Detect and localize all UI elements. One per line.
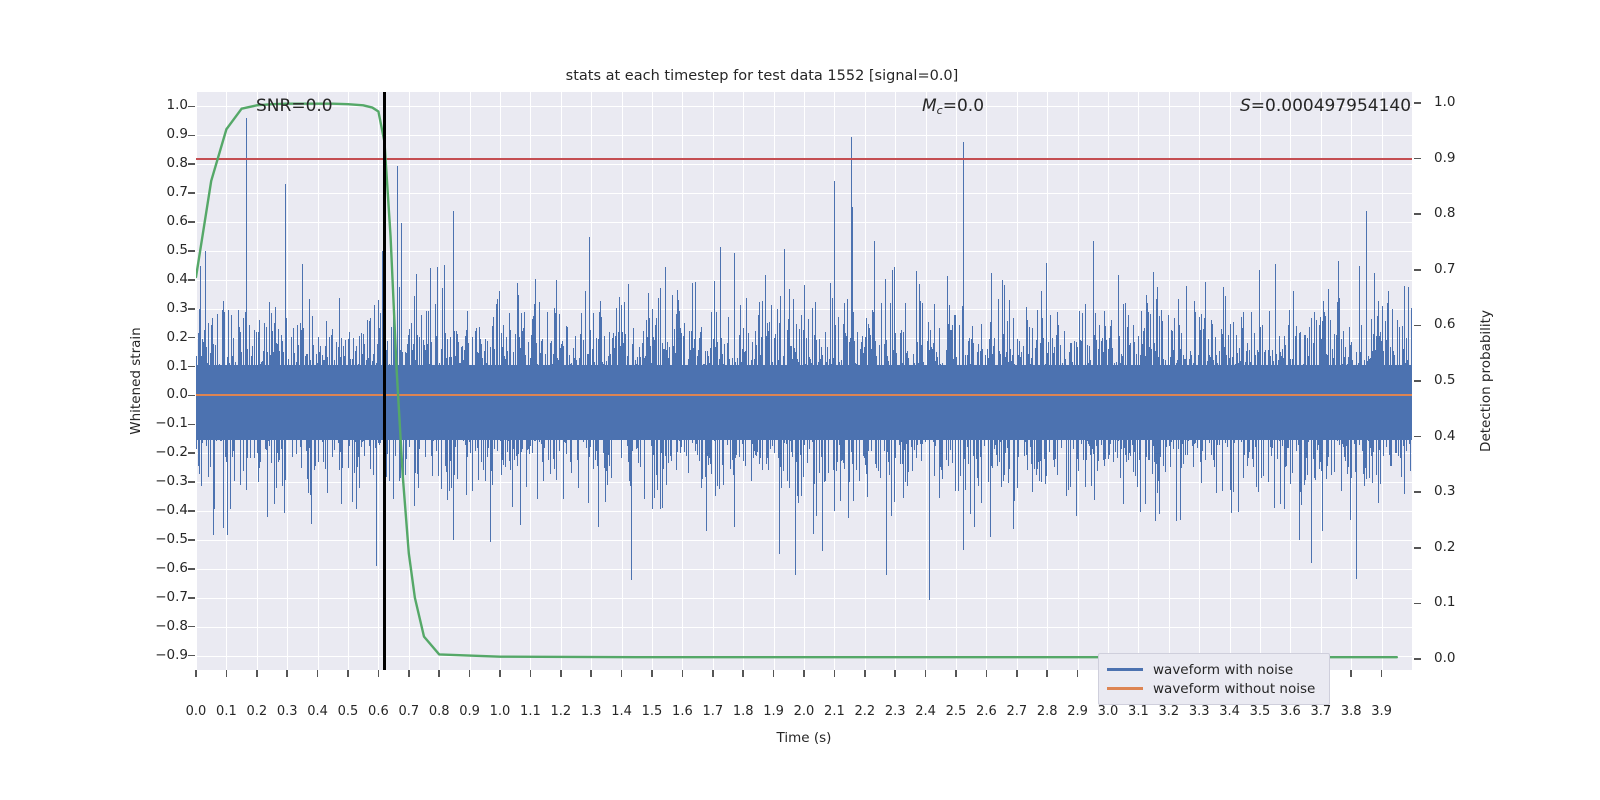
- y-axis-left-tick-label: 1.0: [128, 97, 188, 113]
- y-axis-right-tick-label: 0.1: [1434, 594, 1494, 610]
- chart-title-text: stats at each timestep for test data 155…: [566, 68, 959, 84]
- x-axis-tick-mark: [925, 670, 927, 677]
- y-axis-left-tick-label: 0.2: [128, 329, 188, 345]
- y-axis-left-tick-mark: [188, 481, 195, 483]
- legend-item[interactable]: waveform with noise: [1107, 660, 1321, 679]
- x-axis-tick-mark: [590, 670, 592, 677]
- x-axis-tick-mark: [864, 670, 866, 677]
- y-axis-left-tick-label: −0.1: [128, 415, 188, 431]
- y-axis-left-tick-mark: [188, 135, 195, 137]
- y-axis-left-tick-mark: [188, 568, 195, 570]
- x-axis-tick-mark: [226, 670, 228, 677]
- x-axis-tick-mark: [834, 670, 836, 677]
- legend-color-swatch: [1107, 687, 1143, 690]
- y-axis-left-tick-label: 0.3: [128, 300, 188, 316]
- y-axis-right-tick-label: 0.7: [1434, 261, 1494, 277]
- x-axis-tick-mark: [286, 670, 288, 677]
- y-axis-left-tick-label: −0.4: [128, 502, 188, 518]
- x-axis-tick-mark: [499, 670, 501, 677]
- chart-title: stats at each timestep for test data 155…: [0, 68, 1600, 84]
- y-axis-right-tick-label: 0.2: [1434, 539, 1494, 555]
- annotation-chirp-mass: Mc=0.0: [922, 96, 984, 117]
- x-axis-tick-mark: [256, 670, 258, 677]
- y-axis-right-tick-label: 0.8: [1434, 205, 1494, 221]
- x-axis-tick-mark: [712, 670, 714, 677]
- y-axis-right-tick-mark: [1414, 269, 1421, 271]
- x-axis-tick-mark: [621, 670, 623, 677]
- y-axis-left-tick-label: 0.0: [128, 386, 188, 402]
- y-axis-left-tick-mark: [188, 250, 195, 252]
- y-axis-right-tick-mark: [1414, 380, 1421, 382]
- y-axis-left-tick-label: −0.3: [128, 473, 188, 489]
- y-axis-right-tick-mark: [1414, 436, 1421, 438]
- x-axis-tick-mark: [347, 670, 349, 677]
- y-axis-left-label: Whitened strain: [128, 92, 144, 670]
- x-axis-tick-mark: [1350, 670, 1352, 677]
- x-axis-tick-mark: [530, 670, 532, 677]
- y-axis-left-tick-mark: [188, 424, 195, 426]
- x-axis-tick-mark: [560, 670, 562, 677]
- y-axis-left-tick-mark: [188, 510, 195, 512]
- legend-item[interactable]: waveform without noise: [1107, 679, 1321, 698]
- y-axis-right-tick-mark: [1414, 102, 1421, 104]
- y-axis-left-tick-mark: [188, 539, 195, 541]
- y-axis-left-tick-label: −0.8: [128, 618, 188, 634]
- y-axis-right-tick-label: 0.5: [1434, 372, 1494, 388]
- y-axis-left-tick-label: −0.7: [128, 589, 188, 605]
- y-axis-right-tick-label: 0.0: [1434, 650, 1494, 666]
- y-axis-right-tick-mark: [1414, 603, 1421, 605]
- x-axis-tick-mark: [651, 670, 653, 677]
- annotation-score-value: =0.000497954140882939: [1251, 96, 1412, 116]
- y-axis-left-tick-label: 0.6: [128, 213, 188, 229]
- annotation-chirp-mass-value: =0.0: [943, 96, 984, 116]
- y-axis-right-tick-label: 1.0: [1434, 94, 1494, 110]
- y-axis-left-tick-mark: [188, 163, 195, 165]
- y-axis-right-tick-label: 0.4: [1434, 428, 1494, 444]
- x-axis-tick-mark: [378, 670, 380, 677]
- x-axis-tick-mark: [682, 670, 684, 677]
- y-axis-left-tick-mark: [188, 106, 195, 108]
- y-axis-left-tick-mark: [188, 337, 195, 339]
- y-axis-left-tick-mark: [188, 366, 195, 368]
- y-axis-left-tick-mark: [188, 395, 195, 397]
- y-axis-right-tick-label: 0.6: [1434, 316, 1494, 332]
- y-axis-left-tick-mark: [188, 655, 195, 657]
- x-axis-tick-mark: [469, 670, 471, 677]
- x-axis-tick-mark: [1016, 670, 1018, 677]
- y-axis-left-tick-mark: [188, 279, 195, 281]
- x-axis-tick-mark: [408, 670, 410, 677]
- y-axis-left-tick-mark: [188, 626, 195, 628]
- y-axis-left-tick-mark: [188, 192, 195, 194]
- y-axis-left-tick-mark: [188, 221, 195, 223]
- x-axis-tick-mark: [438, 670, 440, 677]
- y-axis-left-tick-mark: [188, 308, 195, 310]
- y-axis-left-tick-mark: [188, 452, 195, 454]
- x-axis-tick-mark: [773, 670, 775, 677]
- x-axis-tick-mark: [955, 670, 957, 677]
- y-axis-left-tick-label: −0.5: [128, 531, 188, 547]
- plot-area: SNR=0.0 Mc=0.0 S=0.000497954140882939: [196, 92, 1412, 670]
- y-axis-right-tick-mark: [1414, 158, 1421, 160]
- y-axis-left-tick-label: 0.1: [128, 358, 188, 374]
- y-axis-right-tick-mark: [1414, 213, 1421, 215]
- annotation-snr: SNR=0.0: [256, 96, 333, 116]
- y-axis-left-tick-label: 0.5: [128, 242, 188, 258]
- x-axis-tick-mark: [317, 670, 319, 677]
- y-axis-right-tick-mark: [1414, 325, 1421, 327]
- y-axis-right-tick-label: 0.9: [1434, 150, 1494, 166]
- x-axis-tick-mark: [803, 670, 805, 677]
- y-axis-right-tick-mark: [1414, 658, 1421, 660]
- x-axis-tick-mark: [1077, 670, 1079, 677]
- legend-label: waveform without noise: [1153, 681, 1315, 697]
- x-axis-tick-mark: [1046, 670, 1048, 677]
- y-axis-left-tick-label: 0.9: [128, 126, 188, 142]
- y-axis-right-tick-mark: [1414, 491, 1421, 493]
- annotation-score-symbol: S: [1240, 96, 1251, 116]
- merger-time-marker: [383, 92, 386, 670]
- x-axis-tick-mark: [195, 670, 197, 677]
- detection-probability-series: [196, 92, 1412, 670]
- x-axis-tick-mark: [894, 670, 896, 677]
- x-axis-label: Time (s): [196, 730, 1412, 746]
- annotation-chirp-mass-symbol: M: [922, 96, 937, 116]
- y-axis-right-tick-mark: [1414, 547, 1421, 549]
- figure: stats at each timestep for test data 155…: [0, 0, 1600, 800]
- y-axis-left-tick-label: −0.2: [128, 444, 188, 460]
- y-axis-left-tick-label: 0.4: [128, 271, 188, 287]
- y-axis-left-tick-label: −0.9: [128, 647, 188, 663]
- x-axis-tick-mark: [742, 670, 744, 677]
- y-axis-left-tick-mark: [188, 597, 195, 599]
- x-axis-tick-label: 3.9: [1362, 704, 1402, 719]
- annotation-score: S=0.000497954140882939: [1240, 96, 1412, 116]
- y-axis-left-tick-label: 0.8: [128, 155, 188, 171]
- x-axis-tick-mark: [1381, 670, 1383, 677]
- y-axis-left-tick-label: −0.6: [128, 560, 188, 576]
- y-axis-left-tick-label: 0.7: [128, 184, 188, 200]
- legend-color-swatch: [1107, 668, 1143, 671]
- legend: waveform with noisewaveform without nois…: [1098, 653, 1330, 705]
- x-axis-tick-mark: [986, 670, 988, 677]
- legend-label: waveform with noise: [1153, 662, 1293, 678]
- y-axis-right-tick-label: 0.3: [1434, 483, 1494, 499]
